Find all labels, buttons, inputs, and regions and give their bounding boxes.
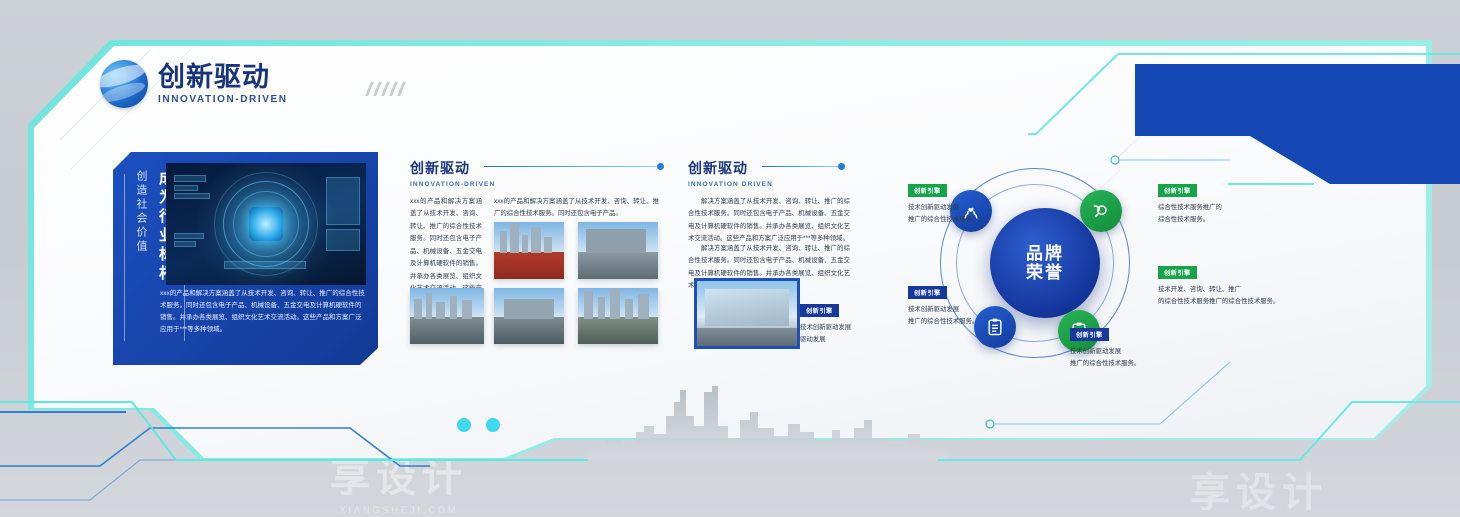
label-top-right: 创新引擎 综合性技术服务推广的 综合性技术服务。 xyxy=(1158,180,1276,226)
section-one-rule xyxy=(484,166,659,167)
brand-title-en: INNOVATION-DRIVEN xyxy=(158,94,288,105)
caption-badge: 创新引擎 xyxy=(800,304,839,317)
label-mid-right: 创新引擎 技术开发、咨询、转让、推广 的综合性技术服务推广的综合性技术服务。 xyxy=(1158,262,1308,308)
label-text: 技术开发、咨询、转让、推广 的综合性技术服务推广的综合性技术服务。 xyxy=(1158,284,1308,308)
center-line-two: 荣誉 xyxy=(1026,263,1064,282)
section-two-paragraph-one: 解决方案涵盖了从技术开发、咨询、转让、推广的综合性技术服务。同时还包含电子产品、… xyxy=(688,196,850,246)
brand-title-cn: 创新驱动 xyxy=(158,63,288,91)
label-badge: 创新引擎 xyxy=(908,184,947,197)
label-text: 综合性技术服务推广的 综合性技术服务。 xyxy=(1158,202,1276,226)
photo-residential-towers xyxy=(578,288,658,344)
brand-logo: 创新驱动 INNOVATION-DRIVEN xyxy=(100,60,288,108)
label-badge: 创新引擎 xyxy=(1070,328,1109,341)
photo-exhibition-hall xyxy=(694,278,800,349)
section-one-header: 创新驱动 INNOVATION-DRIVEN xyxy=(410,158,495,188)
hash-marks-decor xyxy=(368,82,414,96)
section-two-title-en: INNOVATION DRIVEN xyxy=(688,181,773,188)
label-text: 技术创新驱动发展 推广的综合性技术服务。 xyxy=(908,304,1026,328)
label-text: 技术创新驱动发展 推广的综合性技术服务。 xyxy=(908,202,1026,226)
search-leaf-icon xyxy=(1091,201,1111,221)
photo-city-plaza xyxy=(494,222,564,279)
label-badge: 创新引擎 xyxy=(1158,266,1197,279)
label-bottom-left: 创新引擎 技术创新驱动发展 推广的综合性技术服务。 xyxy=(908,282,1026,328)
section-two-title-cn: 创新驱动 xyxy=(688,158,773,178)
section-two-header: 创新驱动 INNOVATION DRIVEN xyxy=(688,158,773,188)
wall-design-canvas: 享设计XIANGSHEJI.COM 享设计XIANGSHEJI.COM 享设计X… xyxy=(0,0,1460,517)
label-text: 技术创新驱动发展 推广的综合性技术服务。 xyxy=(1070,346,1188,370)
label-top-left: 创新引擎 技术创新驱动发展 推广的综合性技术服务。 xyxy=(908,180,1026,226)
vertical-sub: 创造社会价值 xyxy=(133,170,149,345)
center-line-one: 品牌 xyxy=(1026,244,1064,263)
city-skyline-silhouette xyxy=(588,382,948,460)
section-one-title-en: INNOVATION-DRIVEN xyxy=(410,181,495,188)
section-one-rule-dot xyxy=(657,163,664,170)
section-two-rule xyxy=(762,166,840,167)
caption-text: 技术创新驱动发展 驱动发展 xyxy=(800,322,890,346)
label-bottom-right: 创新引擎 技术创新驱动发展 推广的综合性技术服务。 xyxy=(1070,324,1188,370)
photo-industrial-building xyxy=(578,222,658,279)
globe-icon xyxy=(100,60,148,108)
section-two-caption: 创新引擎 技术创新驱动发展 驱动发展 xyxy=(800,300,890,346)
left-panel-body: xxx的产品和解决方案涵盖了从技术开发、咨询、转让、推广的综合性技术服务。同时还… xyxy=(160,288,366,336)
watermark: 享设计XIANGSHEJI.COM xyxy=(1190,460,1328,517)
photo-riverside-city xyxy=(410,288,484,344)
photo-civic-center xyxy=(494,288,564,344)
node-search-leaf[interactable] xyxy=(1080,190,1122,232)
section-one-title-cn: 创新驱动 xyxy=(410,158,495,178)
label-badge: 创新引擎 xyxy=(1158,184,1197,197)
section-one-column-right: xxx的产品和解决方案涵盖了从技术开发、咨询、转让、推广的综合性技术服务。同时还… xyxy=(494,196,659,221)
section-two-rule-dot xyxy=(838,163,845,170)
label-badge: 创新引擎 xyxy=(908,286,947,299)
tech-globe-image xyxy=(166,163,366,285)
